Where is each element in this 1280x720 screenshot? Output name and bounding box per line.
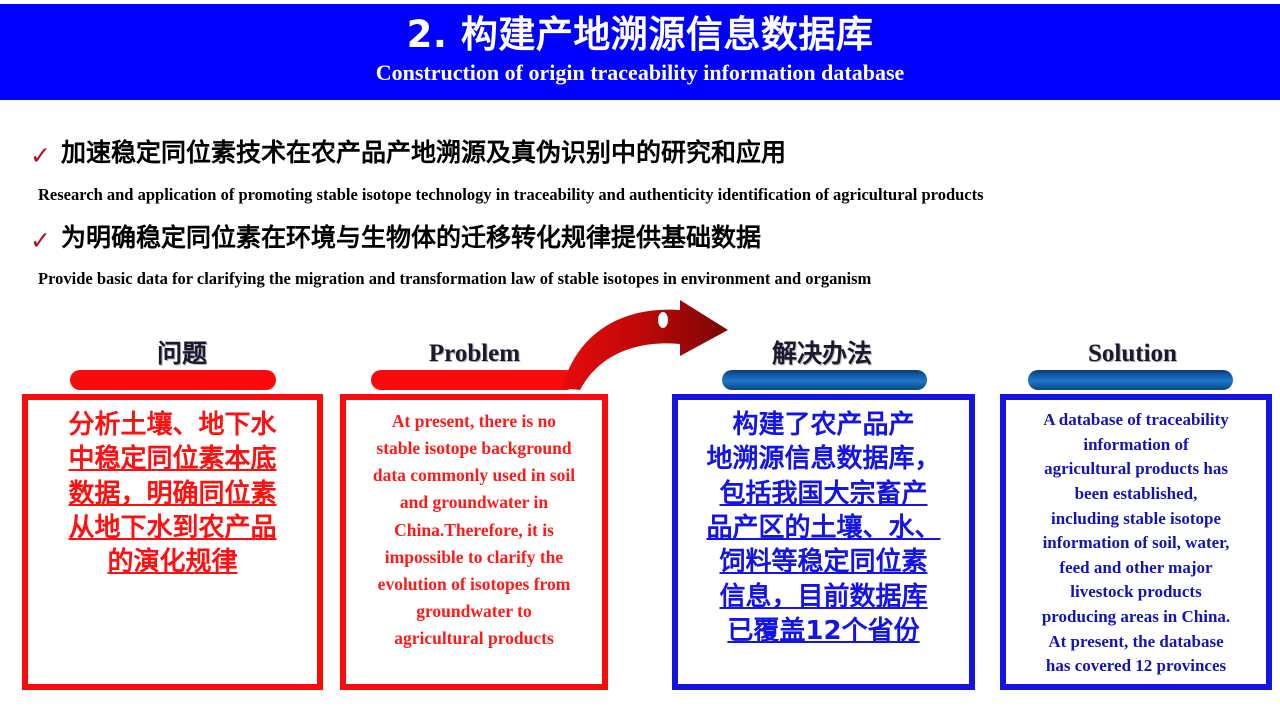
content-line: 已覆盖12个省份 bbox=[684, 614, 963, 648]
content-box-problem-en: At present, there is nostable isotope ba… bbox=[340, 394, 608, 690]
content-line-underlined: 中稳定同位素本底 bbox=[68, 444, 276, 474]
content-box-solution-en-text: A database of traceabilityinformation of… bbox=[1012, 408, 1260, 679]
check-icon: ✓ bbox=[30, 143, 51, 168]
bullet-1-english: Research and application of promoting st… bbox=[38, 186, 984, 204]
content-line: feed and other major bbox=[1012, 556, 1260, 581]
content-line: has covered 12 provinces bbox=[1012, 654, 1260, 679]
content-box-problem-cn: 分析土壤、地下水中稳定同位素本底数据，明确同位素从地下水到农产品的演化规律 bbox=[22, 394, 323, 690]
bullet-item-1: ✓ 加速稳定同位素技术在农产品产地溯源及真伪识别中的研究和应用 bbox=[30, 139, 786, 168]
content-line-underlined: 已覆盖12个省份 bbox=[727, 616, 919, 646]
content-line: 地溯源信息数据库， bbox=[684, 442, 963, 476]
content-line: China.Therefore, it is bbox=[354, 517, 594, 544]
content-line: information of soil, water, bbox=[1012, 531, 1260, 556]
content-line: data commonly used in soil bbox=[354, 462, 594, 489]
content-line: 中稳定同位素本底 bbox=[34, 442, 311, 476]
content-line: 品产区的土壤、水、 bbox=[684, 511, 963, 545]
content-line: producing areas in China. bbox=[1012, 605, 1260, 630]
content-line: 构建了农产品产 bbox=[684, 408, 963, 442]
content-box-solution-cn-text: 构建了农产品产地溯源信息数据库，包括我国大宗畜产品产区的土壤、水、饲料等稳定同位… bbox=[684, 408, 963, 648]
content-line: been established, bbox=[1012, 482, 1260, 507]
content-line: 的演化规律 bbox=[34, 545, 311, 579]
content-box-solution-cn: 构建了农产品产地溯源信息数据库，包括我国大宗畜产品产区的土壤、水、饲料等稳定同位… bbox=[672, 394, 975, 690]
content-line: At present, there is no bbox=[354, 408, 594, 435]
content-line-underlined: 数据，明确同位素 bbox=[68, 479, 276, 509]
content-line-underlined: 从地下水到农产品 bbox=[68, 513, 276, 543]
title-banner: 2. 构建产地溯源信息数据库 Construction of origin tr… bbox=[0, 4, 1280, 100]
content-line: impossible to clarify the bbox=[354, 544, 594, 571]
bullet-1-chinese: 加速稳定同位素技术在农产品产地溯源及真伪识别中的研究和应用 bbox=[61, 139, 786, 167]
content-box-problem-en-text: At present, there is nostable isotope ba… bbox=[354, 408, 594, 652]
curved-arrow-icon bbox=[556, 298, 766, 390]
title-chinese: 2. 构建产地溯源信息数据库 bbox=[0, 16, 1280, 53]
check-icon: ✓ bbox=[30, 228, 51, 253]
bullet-2-english: Provide basic data for clarifying the mi… bbox=[38, 270, 871, 288]
content-line: 从地下水到农产品 bbox=[34, 511, 311, 545]
content-line: livestock products bbox=[1012, 580, 1260, 605]
content-line: and groundwater in bbox=[354, 489, 594, 516]
content-line: groundwater to bbox=[354, 598, 594, 625]
accent-pill-problem-cn bbox=[70, 370, 276, 390]
content-line: including stable isotope bbox=[1012, 507, 1260, 532]
content-box-problem-cn-text: 分析土壤、地下水中稳定同位素本底数据，明确同位素从地下水到农产品的演化规律 bbox=[34, 408, 311, 580]
content-line-underlined: 饲料等稳定同位素 bbox=[719, 547, 927, 577]
content-line: agricultural products has bbox=[1012, 457, 1260, 482]
content-line: evolution of isotopes from bbox=[354, 571, 594, 598]
content-line: agricultural products bbox=[354, 625, 594, 652]
content-line: stable isotope background bbox=[354, 435, 594, 462]
content-line: At present, the database bbox=[1012, 630, 1260, 655]
arrow-highlight bbox=[658, 312, 668, 328]
content-box-solution-en: A database of traceabilityinformation of… bbox=[1000, 394, 1272, 690]
content-line-underlined: 品产区的土壤、水、 bbox=[706, 513, 940, 543]
accent-pill-problem-en bbox=[371, 370, 576, 390]
content-line-underlined: 信息，目前数据库 bbox=[719, 582, 927, 612]
content-line: 饲料等稳定同位素 bbox=[684, 545, 963, 579]
content-line: 分析土壤、地下水 bbox=[34, 408, 311, 442]
accent-pill-solution-en bbox=[1028, 370, 1233, 390]
column-heading-solution-en: Solution bbox=[1040, 341, 1225, 366]
column-heading-problem-cn: 问题 bbox=[92, 341, 272, 366]
content-line: 数据，明确同位素 bbox=[34, 477, 311, 511]
content-line: 包括我国大宗畜产 bbox=[684, 477, 963, 511]
content-line: information of bbox=[1012, 433, 1260, 458]
content-line: A database of traceability bbox=[1012, 408, 1260, 433]
column-heading-problem-en: Problem bbox=[382, 341, 567, 366]
content-line-underlined: 的演化规律 bbox=[107, 547, 237, 577]
content-line: 信息，目前数据库 bbox=[684, 580, 963, 614]
content-line-underlined: 包括我国大宗畜产 bbox=[719, 479, 927, 509]
title-english: Construction of origin traceability info… bbox=[0, 61, 1280, 84]
bullet-item-2: ✓ 为明确稳定同位素在环境与生物体的迁移转化规律提供基础数据 bbox=[30, 224, 761, 253]
bullet-2-chinese: 为明确稳定同位素在环境与生物体的迁移转化规律提供基础数据 bbox=[61, 224, 761, 252]
